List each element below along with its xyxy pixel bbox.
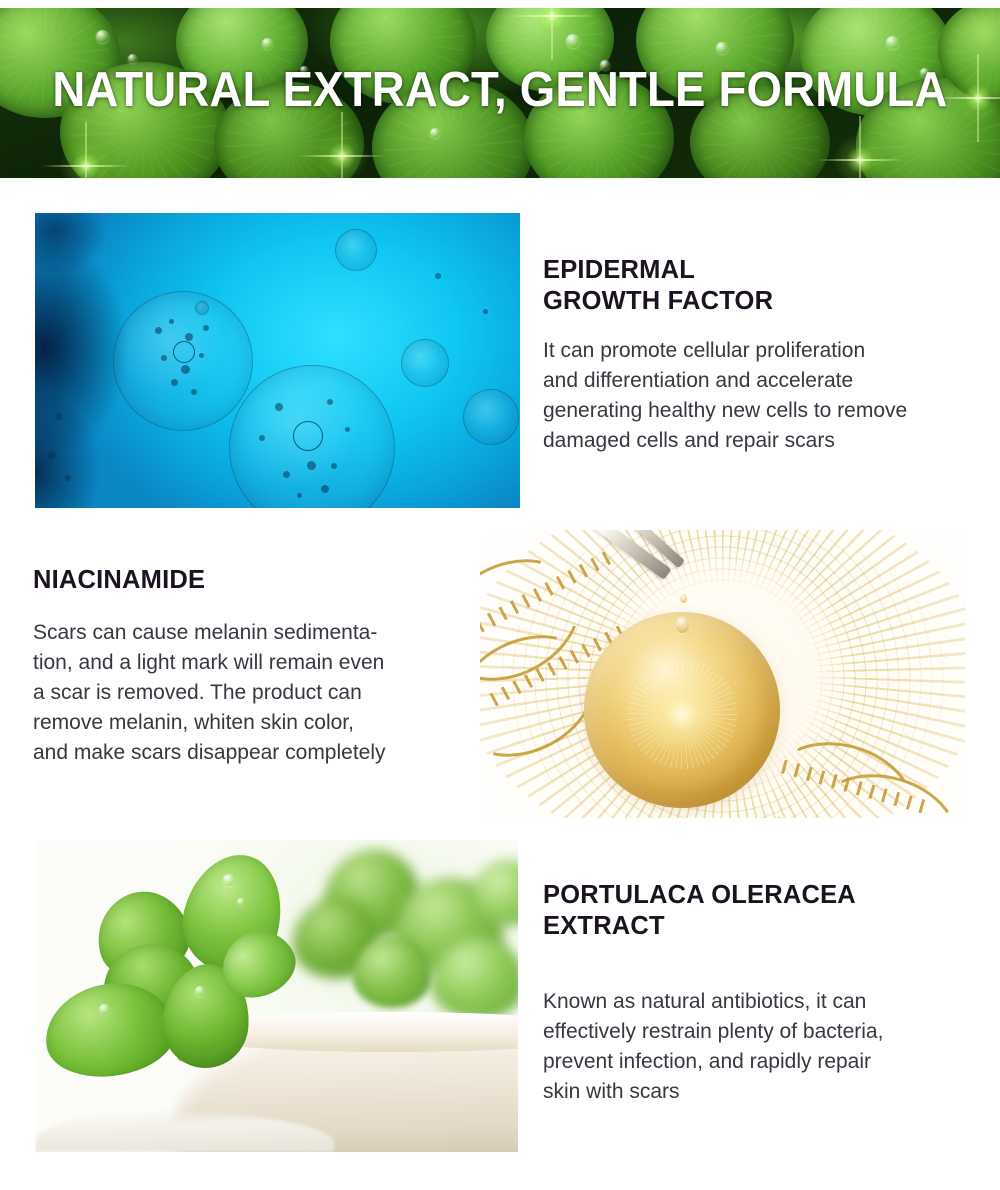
section-text-epidermal-growth-factor: EPIDERMAL GROWTH FACTOR It can promote c…	[543, 255, 963, 456]
section-body-portulaca-oleracea-extract: Known as natural antibiotics, it can eff…	[543, 987, 963, 1107]
section-text-portulaca-oleracea-extract: PORTULACA OLERACEA EXTRACT Known as natu…	[543, 880, 963, 1107]
section-image-epidermal-growth-factor	[35, 213, 520, 508]
section-image-portulaca-oleracea-extract	[35, 840, 518, 1152]
section-body-niacinamide: Scars can cause melanin sedimenta- tion,…	[33, 618, 458, 768]
hero-banner: NATURAL EXTRACT, GENTLE FORMULA	[0, 8, 1000, 178]
product-infographic-page: NATURAL EXTRACT, GENTLE FORMULA	[0, 0, 1000, 1190]
section-heading-niacinamide: NIACINAMIDE	[33, 565, 458, 596]
section-heading-epidermal-growth-factor: EPIDERMAL GROWTH FACTOR	[543, 255, 963, 317]
section-text-niacinamide: NIACINAMIDE Scars can cause melanin sedi…	[33, 565, 458, 768]
section-heading-portulaca-oleracea-extract: PORTULACA OLERACEA EXTRACT	[543, 880, 963, 942]
hero-title: NATURAL EXTRACT, GENTLE FORMULA	[35, 8, 965, 178]
section-body-epidermal-growth-factor: It can promote cellular proliferation an…	[543, 336, 963, 456]
section-image-niacinamide	[480, 530, 965, 818]
